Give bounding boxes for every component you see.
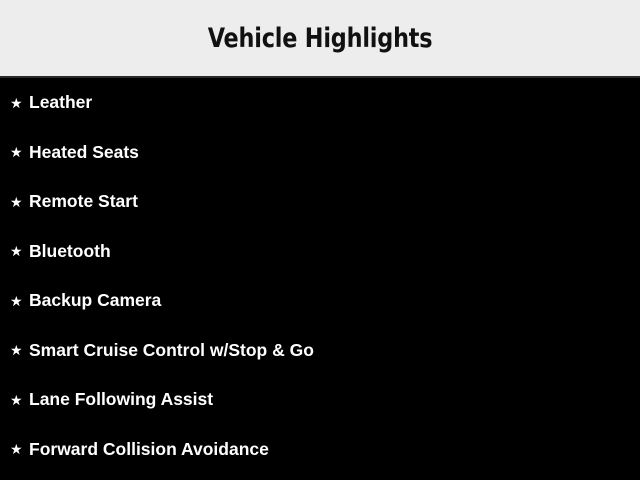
highlight-label: Smart Cruise Control w/Stop & Go bbox=[29, 342, 314, 360]
star-icon: ★ bbox=[10, 442, 29, 456]
list-item: ★ Lane Following Assist bbox=[0, 375, 640, 425]
list-item: ★ Forward Collision Avoidance bbox=[0, 425, 640, 475]
highlight-label: Bluetooth bbox=[29, 243, 111, 261]
list-item: ★ Backup Camera bbox=[0, 276, 640, 326]
star-icon: ★ bbox=[10, 96, 29, 110]
star-icon: ★ bbox=[10, 393, 29, 407]
list-item: ★ Leather bbox=[0, 78, 640, 128]
list-item: ★ Bluetooth bbox=[0, 227, 640, 277]
star-icon: ★ bbox=[10, 244, 29, 258]
star-icon: ★ bbox=[10, 343, 29, 357]
list-item: ★ Smart Cruise Control w/Stop & Go bbox=[0, 326, 640, 376]
highlight-label: Backup Camera bbox=[29, 292, 161, 310]
list-item: ★ Remote Start bbox=[0, 177, 640, 227]
highlights-panel: ★ Leather ★ Heated Seats ★ Remote Start … bbox=[0, 78, 640, 480]
highlight-label: Lane Following Assist bbox=[29, 391, 213, 409]
highlight-label: Remote Start bbox=[29, 193, 138, 211]
star-icon: ★ bbox=[10, 195, 29, 209]
star-icon: ★ bbox=[10, 145, 29, 159]
highlight-label: Leather bbox=[29, 94, 92, 112]
page-title: Vehicle Highlights bbox=[208, 25, 433, 52]
star-icon: ★ bbox=[10, 294, 29, 308]
highlights-list: ★ Leather ★ Heated Seats ★ Remote Start … bbox=[0, 78, 640, 474]
vehicle-highlights-page: Vehicle Highlights ★ Leather ★ Heated Se… bbox=[0, 0, 640, 480]
highlight-label: Heated Seats bbox=[29, 144, 139, 162]
list-item: ★ Heated Seats bbox=[0, 128, 640, 178]
page-header: Vehicle Highlights bbox=[0, 0, 640, 78]
highlight-label: Forward Collision Avoidance bbox=[29, 441, 269, 459]
